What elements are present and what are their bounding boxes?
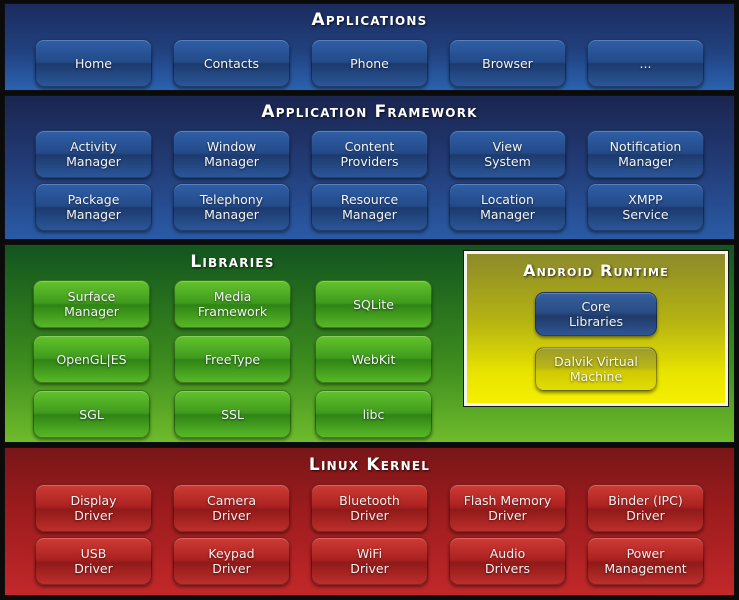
framework-package-manager[interactable]: PackageManager — [35, 183, 152, 231]
app-phone[interactable]: Phone — [311, 39, 428, 87]
app-home[interactable]: Home — [35, 39, 152, 87]
kernel-wifi-driver[interactable]: WiFiDriver — [311, 537, 428, 585]
framework-content-providers[interactable]: ContentProviders — [311, 130, 428, 178]
framework-location-manager[interactable]: LocationManager — [449, 183, 566, 231]
libraries-row-3: SGL SSL libc — [5, 390, 460, 438]
layer-android-runtime: Android Runtime CoreLibraries Dalvik Vir… — [464, 251, 728, 406]
app-contacts[interactable]: Contacts — [173, 39, 290, 87]
kernel-camera-driver[interactable]: CameraDriver — [173, 484, 290, 532]
kernel-row-1: DisplayDriver CameraDriver BluetoothDriv… — [5, 484, 734, 532]
kernel-binder-ipc-driver[interactable]: Binder (IPC)Driver — [587, 484, 704, 532]
layer-applications: Applications Home Contacts Phone Browser… — [4, 3, 735, 91]
runtime-dalvik-virtual-machine[interactable]: Dalvik VirtualMachine — [535, 347, 657, 391]
framework-activity-manager[interactable]: ActivityManager — [35, 130, 152, 178]
app-more[interactable]: ... — [587, 39, 704, 87]
framework-row-2: PackageManager TelephonyManager Resource… — [5, 183, 734, 231]
layer-libraries-and-runtime: Libraries SurfaceManager MediaFramework … — [4, 244, 735, 443]
layer-libraries: Libraries SurfaceManager MediaFramework … — [5, 245, 460, 442]
kernel-audio-drivers[interactable]: AudioDrivers — [449, 537, 566, 585]
framework-resource-manager[interactable]: ResourceManager — [311, 183, 428, 231]
layer-title-application-framework: Application Framework — [5, 96, 734, 130]
libraries-row-2: OpenGL|ES FreeType WebKit — [5, 335, 460, 383]
library-media-framework[interactable]: MediaFramework — [174, 280, 291, 328]
library-surface-manager[interactable]: SurfaceManager — [33, 280, 150, 328]
framework-xmpp-service[interactable]: XMPPService — [587, 183, 704, 231]
library-ssl[interactable]: SSL — [174, 390, 291, 438]
app-browser[interactable]: Browser — [449, 39, 566, 87]
library-sqlite[interactable]: SQLite — [315, 280, 432, 328]
runtime-core-libraries[interactable]: CoreLibraries — [535, 292, 657, 336]
layer-linux-kernel: Linux Kernel DisplayDriver CameraDriver … — [4, 447, 735, 596]
android-architecture-diagram: Applications Home Contacts Phone Browser… — [0, 0, 739, 600]
layer-application-framework: Application Framework ActivityManager Wi… — [4, 95, 735, 240]
applications-row-1: Home Contacts Phone Browser ... — [5, 39, 734, 87]
framework-row-1: ActivityManager WindowManager ContentPro… — [5, 130, 734, 178]
library-webkit[interactable]: WebKit — [315, 335, 432, 383]
kernel-power-management[interactable]: PowerManagement — [587, 537, 704, 585]
library-libc[interactable]: libc — [315, 390, 432, 438]
library-opengl-es[interactable]: OpenGL|ES — [33, 335, 150, 383]
framework-notification-manager[interactable]: NotificationManager — [587, 130, 704, 178]
framework-telephony-manager[interactable]: TelephonyManager — [173, 183, 290, 231]
libraries-row-1: SurfaceManager MediaFramework SQLite — [5, 280, 460, 328]
kernel-row-2: USBDriver KeypadDriver WiFiDriver AudioD… — [5, 537, 734, 585]
layer-title-applications: Applications — [5, 4, 734, 39]
layer-title-linux-kernel: Linux Kernel — [5, 448, 734, 484]
library-freetype[interactable]: FreeType — [174, 335, 291, 383]
library-sgl[interactable]: SGL — [33, 390, 150, 438]
framework-window-manager[interactable]: WindowManager — [173, 130, 290, 178]
kernel-usb-driver[interactable]: USBDriver — [35, 537, 152, 585]
layer-title-libraries: Libraries — [5, 245, 460, 280]
kernel-keypad-driver[interactable]: KeypadDriver — [173, 537, 290, 585]
layer-title-android-runtime: Android Runtime — [523, 254, 669, 292]
kernel-flash-memory-driver[interactable]: Flash MemoryDriver — [449, 484, 566, 532]
kernel-bluetooth-driver[interactable]: BluetoothDriver — [311, 484, 428, 532]
framework-view-system[interactable]: ViewSystem — [449, 130, 566, 178]
kernel-display-driver[interactable]: DisplayDriver — [35, 484, 152, 532]
runtime-container: Android Runtime CoreLibraries Dalvik Vir… — [460, 245, 734, 442]
